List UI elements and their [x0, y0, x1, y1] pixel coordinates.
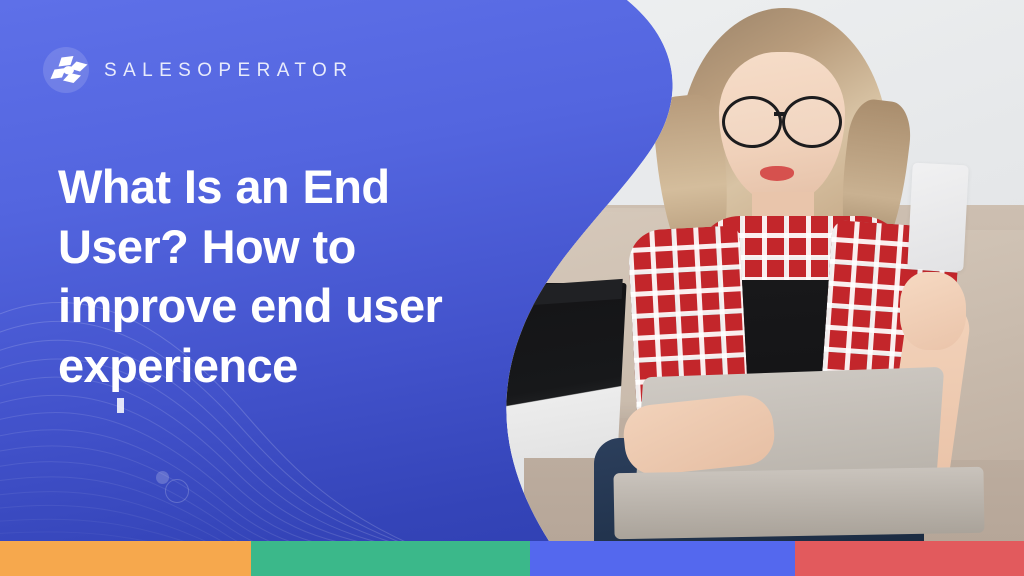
photo-glasses-bridge	[774, 112, 786, 116]
decorative-ring-dot	[165, 479, 189, 503]
photo-lips	[760, 166, 794, 181]
page-title: What Is an End User? How to improve end …	[58, 157, 488, 396]
decorative-tick-mark	[117, 398, 124, 413]
hero-photo	[464, 0, 1024, 541]
color-bar-blue	[530, 541, 795, 576]
color-bar-red	[795, 541, 1024, 576]
blog-header-banner: SALESOPERATOR What Is an End User? How t…	[0, 0, 1024, 576]
photo-laptop-base	[613, 467, 984, 539]
hero-photo-panel	[464, 0, 1024, 541]
brand-logo[interactable]: SALESOPERATOR	[40, 44, 353, 96]
photo-shopping-bag	[499, 283, 626, 458]
color-bar-green	[251, 541, 530, 576]
pinwheel-diamonds-logo-icon	[40, 44, 92, 96]
photo-held-card	[907, 163, 968, 272]
color-bar-orange	[0, 541, 251, 576]
photo-right-hand	[900, 272, 966, 350]
logo-mark	[40, 44, 92, 96]
photo-scurve-mask	[464, 0, 1024, 541]
photo-glasses-left-lens	[722, 96, 782, 148]
bottom-color-bars	[0, 541, 1024, 576]
brand-wordmark: SALESOPERATOR	[104, 61, 353, 80]
photo-glasses-right-lens	[782, 96, 842, 148]
